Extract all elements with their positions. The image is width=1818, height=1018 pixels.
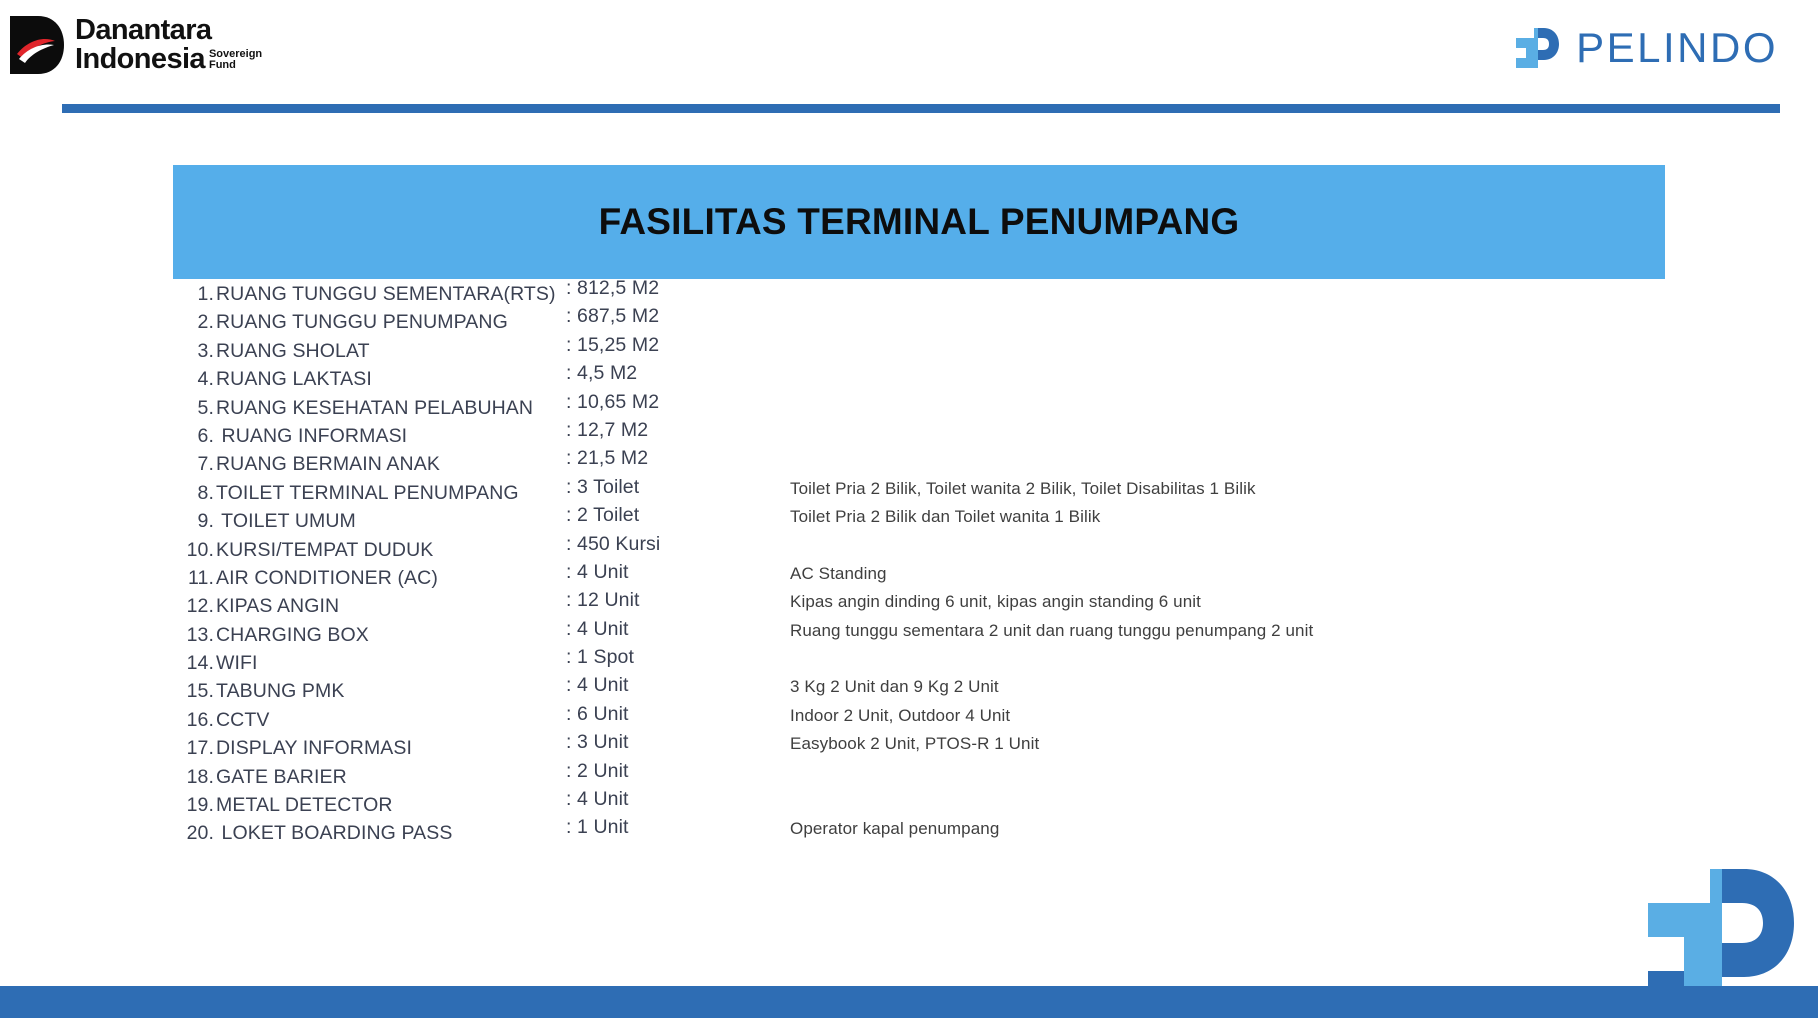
facility-name: KURSI/TEMPAT DUDUK: [216, 539, 433, 561]
facility-label: 10.KURSI/TEMPAT DUDUK: [178, 539, 433, 562]
facility-number: 19.: [178, 794, 214, 817]
facility-row: 17.DISPLAY INFORMASI: 3 UnitEasybook 2 U…: [0, 737, 1818, 765]
facility-row: 5.RUANG KESEHATAN PELABUHAN: 10,65 M2: [0, 397, 1818, 425]
facility-name: TABUNG PMK: [216, 680, 344, 702]
facility-label: 14.WIFI: [178, 652, 258, 675]
facility-row: 9. TOILET UMUM: 2 ToiletToilet Pria 2 Bi…: [0, 510, 1818, 538]
facility-value: : 2 Unit: [566, 760, 629, 783]
facility-value: : 21,5 M2: [566, 447, 648, 470]
facility-number: 20.: [178, 822, 214, 845]
facility-row: 14.WIFI: 1 Spot: [0, 652, 1818, 680]
facility-value: : 812,5 M2: [566, 277, 659, 300]
facility-label: 13.CHARGING BOX: [178, 624, 369, 647]
danantara-d-swoosh-icon: [8, 14, 66, 76]
pelindo-p-icon: [1510, 22, 1562, 74]
facility-label: 5.RUANG KESEHATAN PELABUHAN: [178, 397, 533, 420]
facility-value: : 4 Unit: [566, 618, 629, 641]
facility-row: 20. LOKET BOARDING PASS: 1 UnitOperator …: [0, 822, 1818, 850]
facility-row: 15.TABUNG PMK: 4 Unit3 Kg 2 Unit dan 9 K…: [0, 680, 1818, 708]
facility-value: : 4 Unit: [566, 674, 629, 697]
facility-number: 17.: [178, 737, 214, 760]
pelindo-logo: PELINDO: [1510, 22, 1778, 74]
facility-label: 20. LOKET BOARDING PASS: [178, 822, 452, 845]
facility-row: 4.RUANG LAKTASI: 4,5 M2: [0, 368, 1818, 396]
facility-list: 1.RUANG TUNGGU SEMENTARA(RTS): 812,5 M22…: [0, 283, 1818, 851]
facility-name: TOILET TERMINAL PENUMPANG: [216, 482, 519, 504]
facility-number: 18.: [178, 766, 214, 789]
facility-number: 4.: [178, 368, 214, 391]
facility-number: 13.: [178, 624, 214, 647]
facility-number: 8.: [178, 482, 214, 505]
facility-number: 9.: [178, 510, 214, 533]
danantara-logo: Danantara Indonesia Sovereign Fund: [8, 14, 262, 76]
facility-value: : 4,5 M2: [566, 362, 637, 385]
facility-number: 11.: [178, 567, 214, 590]
danantara-line2: Indonesia: [75, 45, 205, 74]
facility-number: 14.: [178, 652, 214, 675]
title-banner: FASILITAS TERMINAL PENUMPANG: [173, 165, 1665, 279]
facility-value: : 2 Toilet: [566, 504, 639, 527]
facility-value: : 6 Unit: [566, 703, 629, 726]
facility-label: 18.GATE BARIER: [178, 766, 347, 789]
page-header: Danantara Indonesia Sovereign Fund PELIN…: [0, 0, 1818, 110]
facility-name: RUANG TUNGGU PENUMPANG: [216, 311, 508, 333]
facility-name: RUANG TUNGGU SEMENTARA(RTS): [216, 283, 556, 305]
facility-name: DISPLAY INFORMASI: [216, 737, 412, 759]
facility-value: : 4 Unit: [566, 561, 629, 584]
facility-number: 5.: [178, 397, 214, 420]
danantara-wordmark: Danantara Indonesia Sovereign Fund: [75, 16, 262, 74]
facility-name: AIR CONDITIONER (AC): [216, 567, 438, 589]
header-divider: [62, 104, 1780, 113]
facility-name: GATE BARIER: [216, 766, 347, 788]
facility-row: 6. RUANG INFORMASI: 12,7 M2: [0, 425, 1818, 453]
facility-name: CHARGING BOX: [216, 624, 369, 646]
facility-label: 11.AIR CONDITIONER (AC): [178, 567, 438, 590]
facility-value: : 4 Unit: [566, 788, 629, 811]
page-title: FASILITAS TERMINAL PENUMPANG: [599, 201, 1240, 243]
danantara-subtitle: Sovereign Fund: [209, 49, 262, 74]
facility-value: : 450 Kursi: [566, 533, 660, 556]
facility-label: 15.TABUNG PMK: [178, 680, 344, 703]
facility-label: 2.RUANG TUNGGU PENUMPANG: [178, 311, 508, 334]
facility-number: 16.: [178, 709, 214, 732]
facility-label: 1.RUANG TUNGGU SEMENTARA(RTS): [178, 283, 556, 306]
facility-row: 3.RUANG SHOLAT: 15,25 M2: [0, 340, 1818, 368]
facility-row: 1.RUANG TUNGGU SEMENTARA(RTS): 812,5 M2: [0, 283, 1818, 311]
facility-value: : 1 Unit: [566, 816, 629, 839]
facility-name: RUANG SHOLAT: [216, 340, 370, 362]
facility-value: : 12,7 M2: [566, 419, 648, 442]
facility-name: RUANG BERMAIN ANAK: [216, 453, 440, 475]
facility-row: 8.TOILET TERMINAL PENUMPANG: 3 ToiletToi…: [0, 482, 1818, 510]
pelindo-wordmark: PELINDO: [1576, 24, 1778, 72]
facility-number: 2.: [178, 311, 214, 334]
facility-note: Toilet Pria 2 Bilik, Toilet wanita 2 Bil…: [790, 479, 1256, 499]
facility-name: WIFI: [216, 652, 258, 674]
facility-name: RUANG KESEHATAN PELABUHAN: [216, 397, 533, 419]
facility-label: 6. RUANG INFORMASI: [178, 425, 407, 448]
facility-number: 1.: [178, 283, 214, 306]
facility-note: Toilet Pria 2 Bilik dan Toilet wanita 1 …: [790, 507, 1100, 527]
danantara-line1: Danantara: [75, 16, 262, 45]
facility-name: KIPAS ANGIN: [216, 595, 339, 617]
facility-label: 19.METAL DETECTOR: [178, 794, 393, 817]
facility-row: 7.RUANG BERMAIN ANAK: 21,5 M2: [0, 453, 1818, 481]
facility-name: CCTV: [216, 709, 269, 731]
facility-value: : 15,25 M2: [566, 334, 659, 357]
facility-label: 8.TOILET TERMINAL PENUMPANG: [178, 482, 519, 505]
facility-row: 12.KIPAS ANGIN: 12 UnitKipas angin dindi…: [0, 595, 1818, 623]
facility-row: 10.KURSI/TEMPAT DUDUK: 450 Kursi: [0, 539, 1818, 567]
footer-bar: [0, 986, 1818, 1018]
facility-name: LOKET BOARDING PASS: [216, 822, 452, 844]
facility-name: RUANG INFORMASI: [216, 425, 407, 447]
facility-label: 9. TOILET UMUM: [178, 510, 356, 533]
facility-row: 19.METAL DETECTOR: 4 Unit: [0, 794, 1818, 822]
facility-name: METAL DETECTOR: [216, 794, 393, 816]
facility-note: Kipas angin dinding 6 unit, kipas angin …: [790, 592, 1201, 612]
facility-name: TOILET UMUM: [216, 510, 356, 532]
facility-note: Operator kapal penumpang: [790, 819, 999, 839]
facility-value: : 12 Unit: [566, 589, 640, 612]
facility-label: 3.RUANG SHOLAT: [178, 340, 370, 363]
facility-note: AC Standing: [790, 564, 887, 584]
facility-name: RUANG LAKTASI: [216, 368, 372, 390]
facility-row: 13.CHARGING BOX: 4 UnitRuang tunggu seme…: [0, 624, 1818, 652]
facility-label: 4.RUANG LAKTASI: [178, 368, 372, 391]
facility-value: : 687,5 M2: [566, 305, 659, 328]
facility-value: : 1 Spot: [566, 646, 634, 669]
facility-label: 7.RUANG BERMAIN ANAK: [178, 453, 440, 476]
facility-value: : 10,65 M2: [566, 391, 659, 414]
facility-number: 15.: [178, 680, 214, 703]
pelindo-p-watermark-icon: [1618, 851, 1818, 986]
facility-note: Indoor 2 Unit, Outdoor 4 Unit: [790, 706, 1010, 726]
facility-label: 17.DISPLAY INFORMASI: [178, 737, 412, 760]
facility-note: Ruang tunggu sementara 2 unit dan ruang …: [790, 621, 1313, 641]
danantara-sub-line2: Fund: [209, 60, 262, 71]
facility-row: 16.CCTV: 6 UnitIndoor 2 Unit, Outdoor 4 …: [0, 709, 1818, 737]
facility-row: 2.RUANG TUNGGU PENUMPANG: 687,5 M2: [0, 311, 1818, 339]
facility-row: 11.AIR CONDITIONER (AC): 4 UnitAC Standi…: [0, 567, 1818, 595]
facility-number: 6.: [178, 425, 214, 448]
facility-number: 3.: [178, 340, 214, 363]
facility-number: 10.: [178, 539, 214, 562]
facility-value: : 3 Toilet: [566, 476, 639, 499]
facility-row: 18.GATE BARIER: 2 Unit: [0, 766, 1818, 794]
facility-note: 3 Kg 2 Unit dan 9 Kg 2 Unit: [790, 677, 999, 697]
facility-note: Easybook 2 Unit, PTOS-R 1 Unit: [790, 734, 1039, 754]
facility-number: 12.: [178, 595, 214, 618]
facility-number: 7.: [178, 453, 214, 476]
facility-label: 12.KIPAS ANGIN: [178, 595, 339, 618]
facility-value: : 3 Unit: [566, 731, 629, 754]
facility-label: 16.CCTV: [178, 709, 269, 732]
